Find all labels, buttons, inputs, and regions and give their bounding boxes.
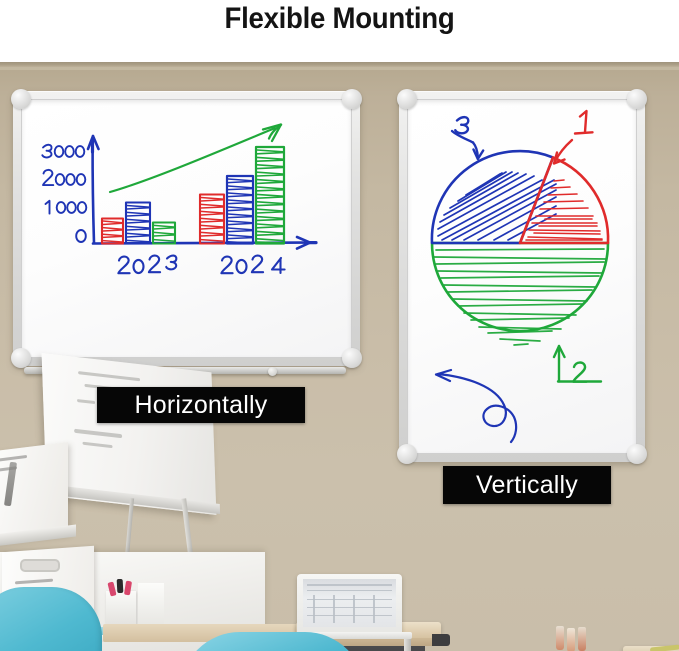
frame-corner-cap-top-right xyxy=(342,89,362,109)
desk-leg xyxy=(404,638,411,651)
laptop-screen xyxy=(303,579,396,627)
product-scene-photo: Horizontally Vertically xyxy=(0,62,679,651)
badge-vertically: Vertically xyxy=(443,466,611,504)
desk-bracket xyxy=(432,634,450,646)
pen-tray-knob xyxy=(268,367,277,376)
wall-ceiling-join-shadow xyxy=(0,67,679,70)
whiteboard-horizontal xyxy=(13,91,360,366)
frame-corner-cap-top-left xyxy=(397,89,417,109)
page-title: Flexible Mounting xyxy=(27,2,652,36)
pie-chart-sketch xyxy=(408,100,636,453)
title-band: Flexible Mounting xyxy=(0,0,679,62)
badge-horizontally: Horizontally xyxy=(97,387,305,423)
frame-corner-cap-bottom-left xyxy=(397,444,417,464)
marker xyxy=(117,579,124,593)
frame-corner-cap-bottom-right xyxy=(627,444,647,464)
frame-corner-cap-top-left xyxy=(11,89,31,109)
frame-corner-cap-bottom-left xyxy=(11,348,31,368)
frame-corner-cap-top-right xyxy=(627,89,647,109)
bottles xyxy=(556,626,590,650)
whiteboard-vertical xyxy=(399,91,645,462)
whiteboard-surface xyxy=(408,100,636,453)
tissue-box xyxy=(138,583,164,625)
bar-chart-sketch xyxy=(22,100,351,357)
frame-corner-cap-bottom-right xyxy=(342,348,362,368)
lap-whiteboard-handle xyxy=(20,559,60,572)
whiteboard-surface xyxy=(22,100,351,357)
